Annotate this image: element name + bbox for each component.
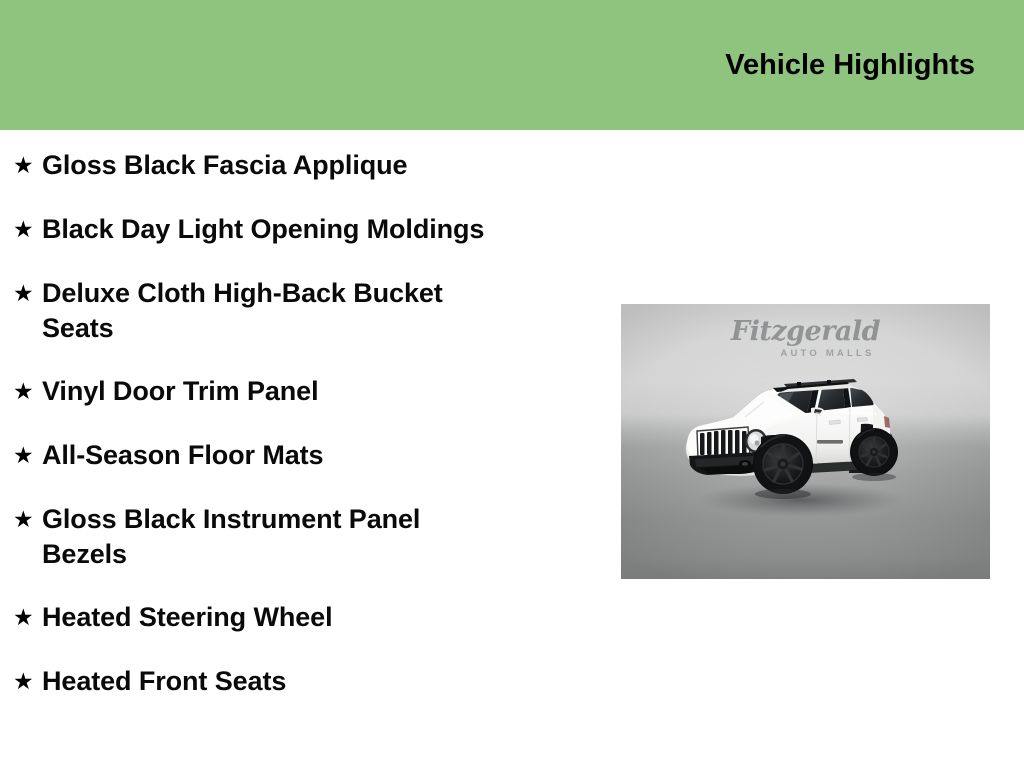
star-icon: ★ (10, 374, 42, 409)
header-bar: Vehicle Highlights (0, 0, 1024, 130)
star-icon: ★ (10, 664, 42, 699)
list-item-label: Gloss Black Instrument Panel Bezels (42, 502, 512, 572)
star-icon: ★ (10, 276, 42, 311)
list-item-label: Vinyl Door Trim Panel (42, 374, 512, 409)
list-item-label: Heated Front Seats (42, 664, 512, 699)
list-item-label: Black Day Light Opening Moldings (42, 212, 512, 247)
list-item: ★ Heated Front Seats (10, 664, 570, 700)
list-item-label: Heated Steering Wheel (42, 600, 512, 635)
list-item: ★ Vinyl Door Trim Panel (10, 374, 570, 410)
jeep-renegade-illustration (621, 304, 990, 579)
star-icon: ★ (10, 148, 42, 183)
page-title: Vehicle Highlights (725, 51, 975, 80)
slide-page: Vehicle Highlights ★ Gloss Black Fascia … (0, 0, 1024, 768)
list-item: ★ Deluxe Cloth High-Back Bucket Seats (10, 276, 570, 346)
list-item-label: All-Season Floor Mats (42, 438, 512, 473)
list-item-label: Gloss Black Fascia Applique (42, 148, 512, 183)
list-item: ★ All-Season Floor Mats (10, 438, 570, 474)
vehicle-highlights-list: ★ Gloss Black Fascia Applique ★ Black Da… (10, 148, 570, 728)
star-icon: ★ (10, 212, 42, 247)
vehicle-photo: Fitzgerald AUTO MALLS (621, 304, 990, 579)
star-icon: ★ (10, 502, 42, 537)
list-item-label: Deluxe Cloth High-Back Bucket Seats (42, 276, 512, 346)
star-icon: ★ (10, 438, 42, 473)
list-item: ★ Black Day Light Opening Moldings (10, 212, 570, 248)
list-item: ★ Heated Steering Wheel (10, 600, 570, 636)
list-item: ★ Gloss Black Fascia Applique (10, 148, 570, 184)
star-icon: ★ (10, 600, 42, 635)
list-item: ★ Gloss Black Instrument Panel Bezels (10, 502, 570, 572)
